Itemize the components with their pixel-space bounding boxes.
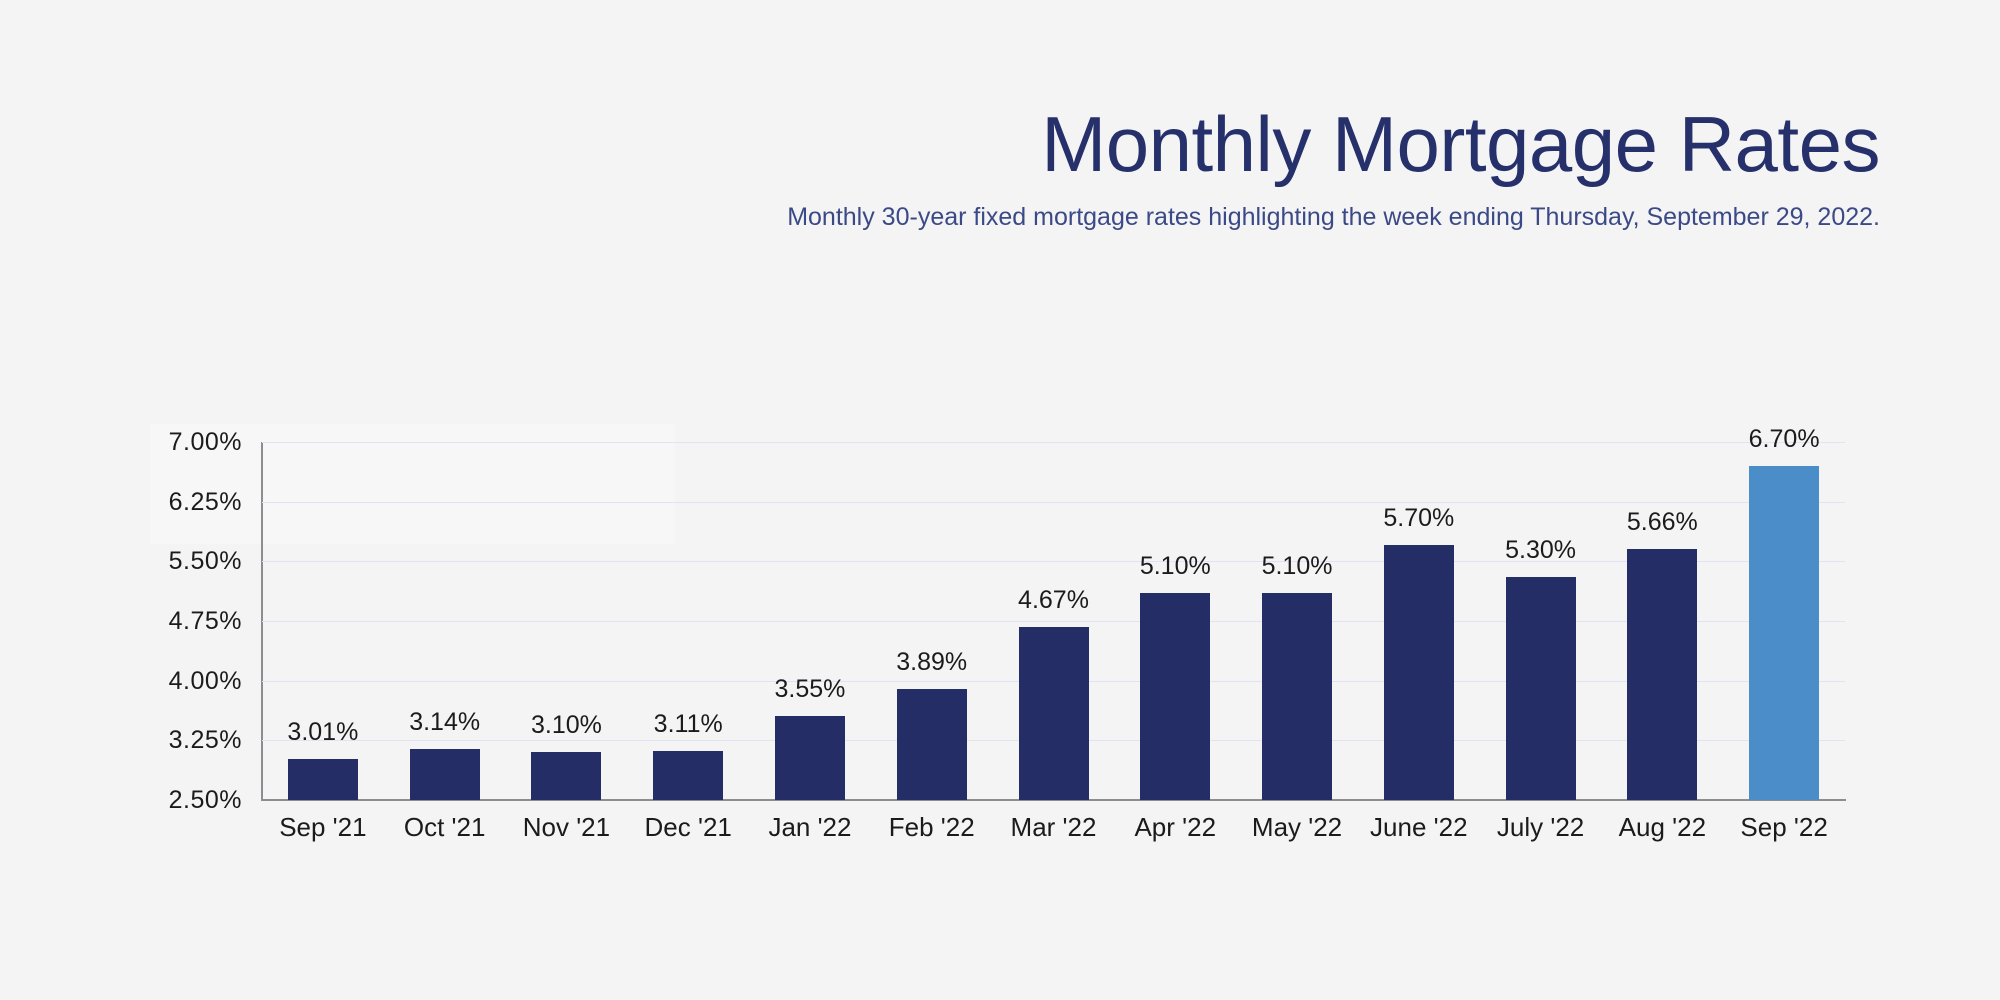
bar-value-label: 3.89% [832,650,1032,675]
bar-value-label: 4.67% [954,588,1154,613]
y-axis-tick-label: 5.50% [132,549,242,574]
bar[interactable] [1506,577,1576,800]
y-axis-tick-label: 4.75% [132,609,242,634]
bar-highlighted[interactable] [1749,466,1819,800]
bar-value-label: 5.66% [1562,510,1762,535]
bar-value-label: 5.30% [1441,538,1641,563]
bar-group[interactable]: 5.10%May '22 [1262,442,1332,800]
bar-group[interactable]: 5.10%Apr '22 [1140,442,1210,800]
y-axis-tick-label: 6.25% [132,490,242,515]
bar[interactable] [653,751,723,800]
bar-group[interactable]: 5.70%June '22 [1384,442,1454,800]
y-axis-tick-label: 4.00% [132,669,242,694]
bar[interactable] [1384,545,1454,800]
y-axis-tick-label: 7.00% [132,430,242,455]
bar[interactable] [775,716,845,800]
bar[interactable] [288,759,358,800]
bar-group[interactable]: 6.70%Sep '22 [1749,442,1819,800]
y-axis-tick-label: 2.50% [132,788,242,813]
bar-group[interactable]: 5.30%July '22 [1506,442,1576,800]
bar-value-label: 3.11% [588,712,788,737]
bar-group[interactable]: 3.89%Feb '22 [897,442,967,800]
bar-value-label: 5.10% [1197,554,1397,579]
bar[interactable] [897,689,967,800]
y-axis-tick-labels: 7.00%6.25%5.50%4.75%4.00%3.25%2.50% [132,0,242,1000]
bar-group[interactable]: 3.11%Dec '21 [653,442,723,800]
bar-group[interactable]: 3.10%Nov '21 [531,442,601,800]
bar-group[interactable]: 4.67%Mar '22 [1019,442,1089,800]
plot-area: 3.01%Sep '213.14%Oct '213.10%Nov '213.11… [262,442,1845,800]
bar-value-label: 5.70% [1319,506,1519,531]
bar[interactable] [410,749,480,800]
x-axis-tick-label: Sep '22 [1674,812,1894,842]
bar[interactable] [1627,549,1697,800]
bar-value-label: 3.55% [710,677,910,702]
bar[interactable] [1140,593,1210,800]
bar-group[interactable]: 5.66%Aug '22 [1627,442,1697,800]
bar[interactable] [531,752,601,800]
bar[interactable] [1019,627,1089,800]
bar-group[interactable]: 3.14%Oct '21 [410,442,480,800]
bar-value-label: 6.70% [1684,427,1884,452]
bar-group[interactable]: 3.01%Sep '21 [288,442,358,800]
bar-group[interactable]: 3.55%Jan '22 [775,442,845,800]
bar[interactable] [1262,593,1332,800]
bar-chart: 7.00%6.25%5.50%4.75%4.00%3.25%2.50% 3.01… [0,0,2000,1000]
